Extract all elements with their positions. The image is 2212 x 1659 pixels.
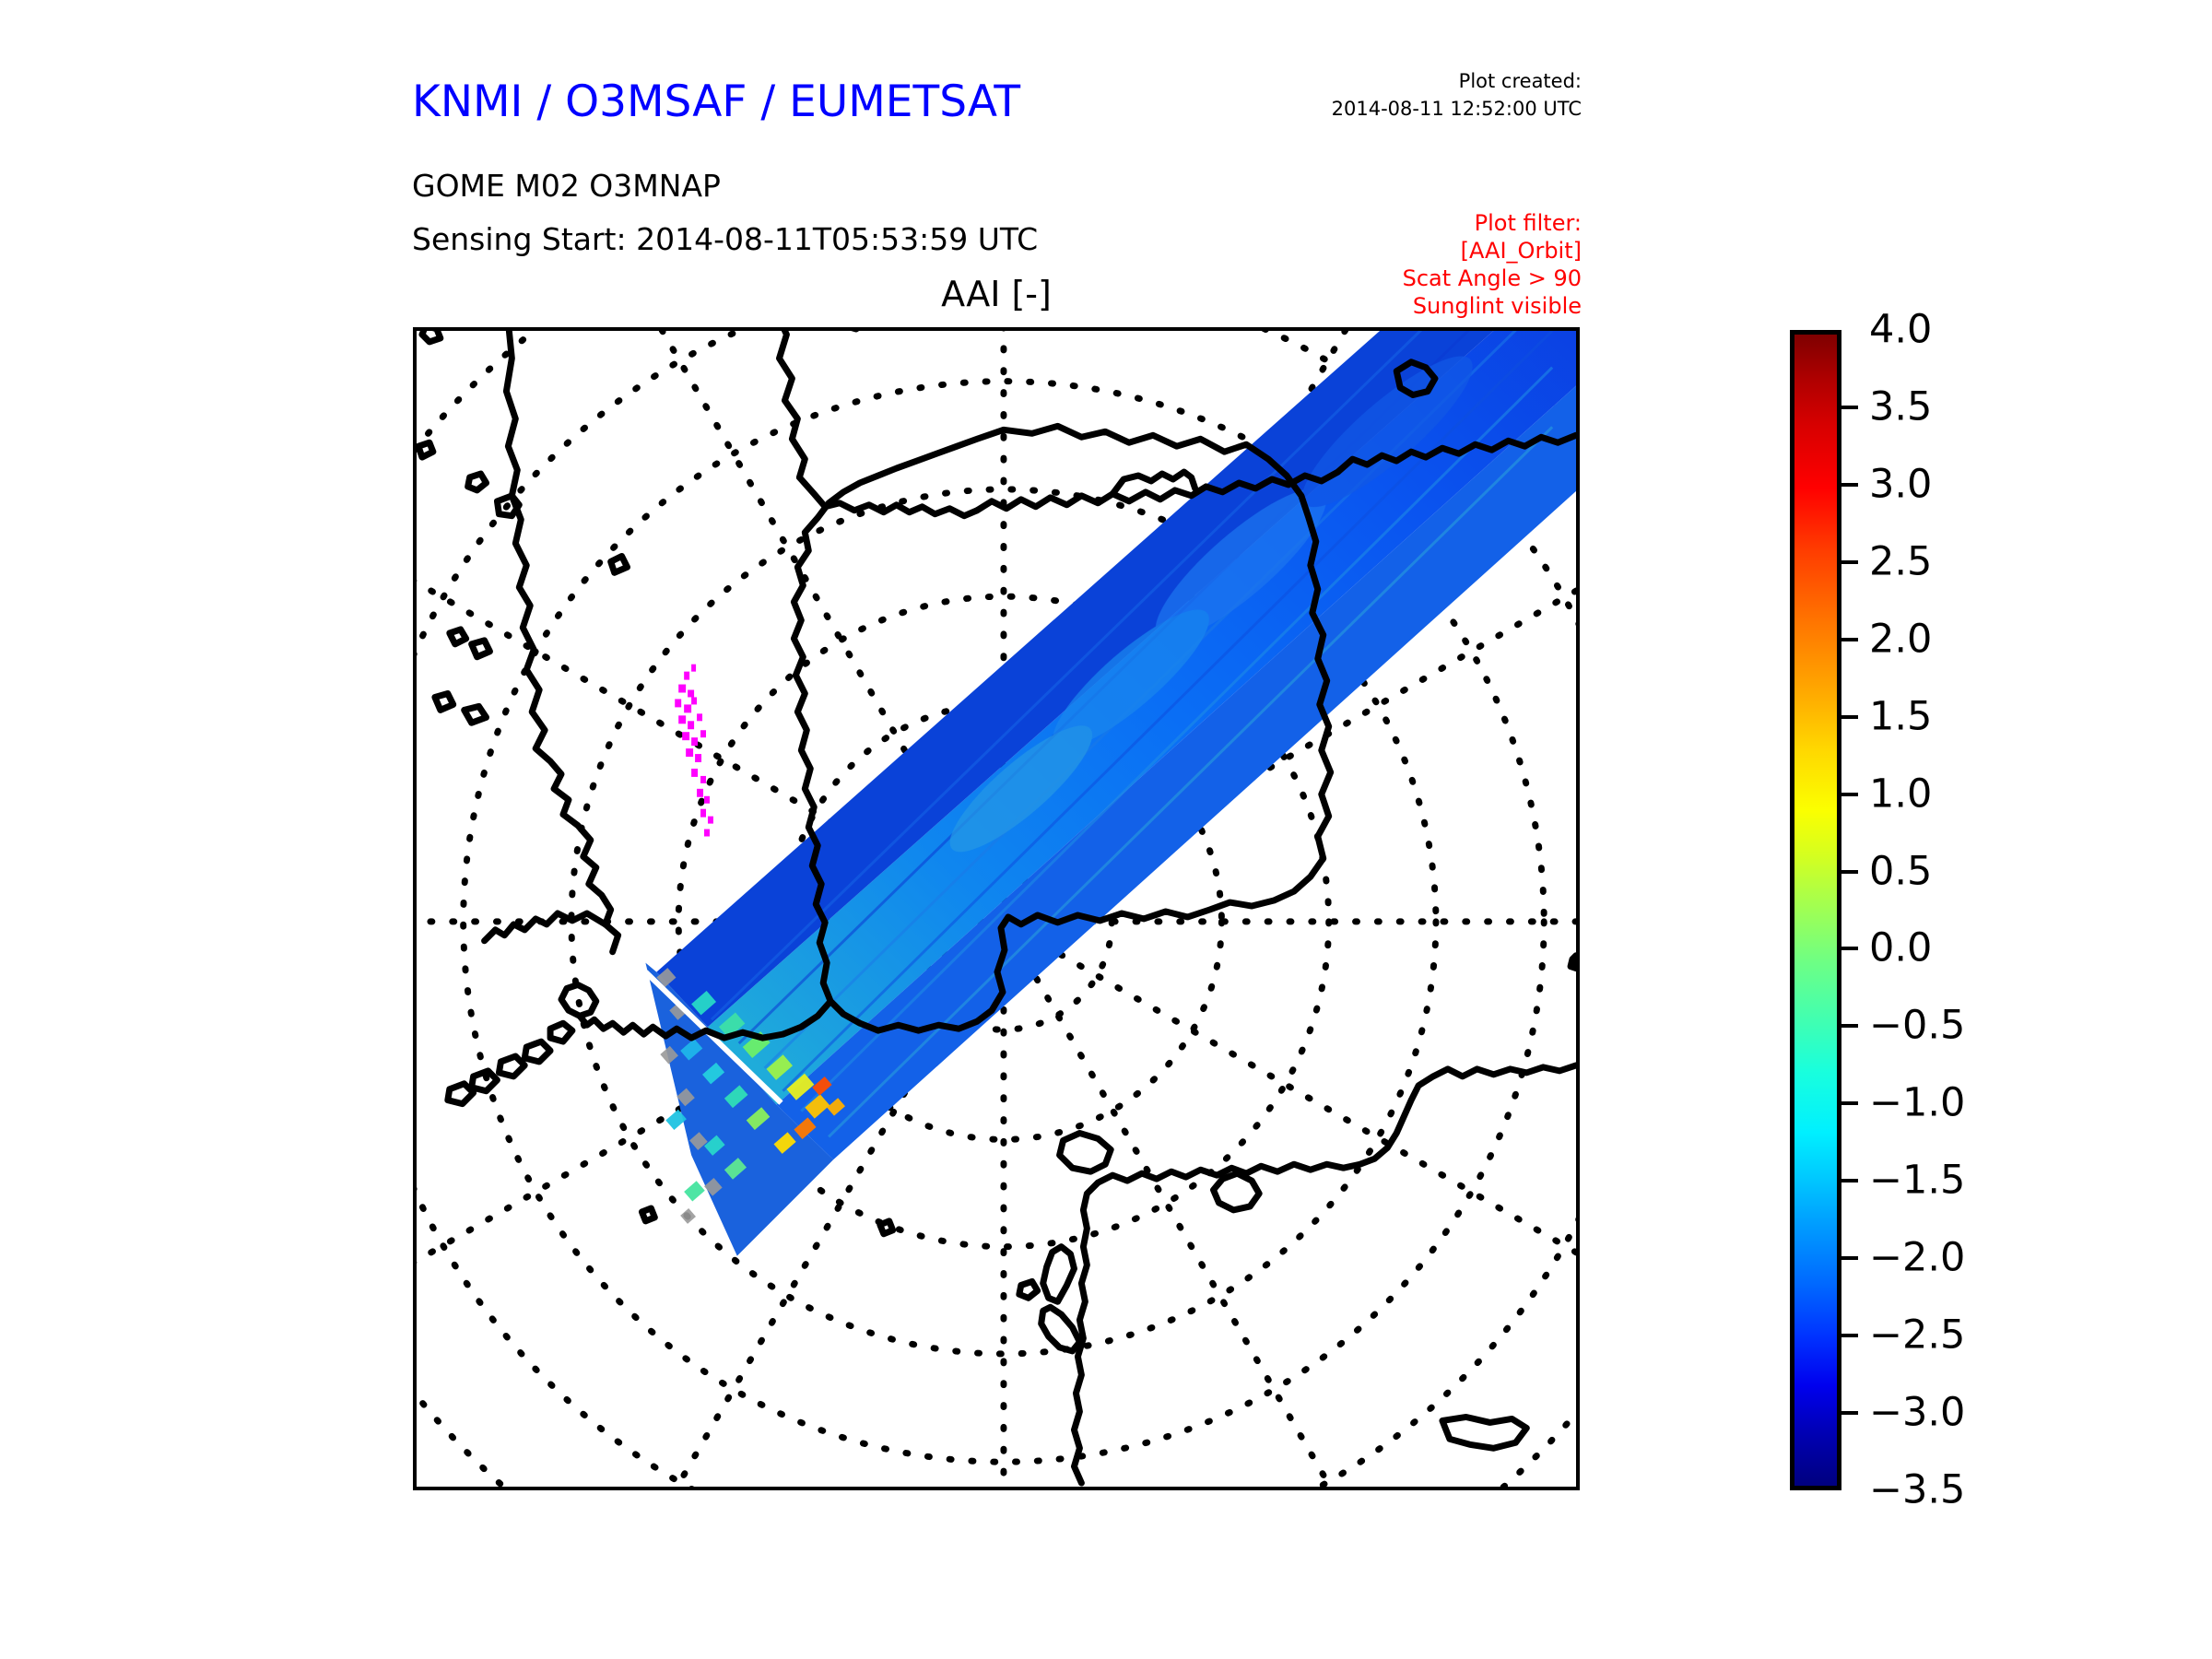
island-t xyxy=(641,1208,654,1221)
colorbar-tick-label: 2.0 xyxy=(1869,619,1932,659)
satellite-swath xyxy=(645,331,1576,1256)
island-g xyxy=(435,693,453,710)
island-v xyxy=(1571,956,1576,969)
map-plot-area[interactable] xyxy=(413,327,1580,1490)
plot-filter-line-3: Sunglint visible xyxy=(1413,293,1582,319)
colorbar-tick-label: 1.0 xyxy=(1869,774,1932,814)
island-tasmania xyxy=(1442,1417,1526,1448)
island-r xyxy=(1214,1173,1260,1210)
colorbar-tick-mark xyxy=(1841,638,1858,641)
colorbar-tick-mark xyxy=(1841,715,1858,719)
colorbar-tick-label: −1.0 xyxy=(1869,1084,1965,1124)
island-b xyxy=(468,474,487,490)
plot-created-value: 2014-08-11 12:52:00 UTC xyxy=(1332,98,1582,120)
island-e xyxy=(450,629,466,644)
colorbar-tick-mark xyxy=(1841,1334,1858,1337)
colorbar[interactable]: 4.03.53.02.52.01.51.00.50.0−0.5−1.0−1.5−… xyxy=(1790,330,1841,1490)
colorbar-tick-label: 2.5 xyxy=(1869,542,1932,582)
island-u xyxy=(880,1221,893,1234)
colorbar-tick-label: 0.5 xyxy=(1869,852,1932,891)
colorbar-tick-label: −3.5 xyxy=(1869,1471,1965,1511)
island-h xyxy=(465,706,487,723)
sunglint-markers xyxy=(675,665,713,837)
island-p xyxy=(472,1071,498,1091)
sensing-start-line: Sensing Start: 2014-08-11T05:53:59 UTC xyxy=(412,221,1038,257)
colorbar-tick-mark xyxy=(1841,1101,1858,1105)
island-nz-south xyxy=(1043,1247,1075,1302)
colorbar-gradient xyxy=(1790,330,1841,1490)
map-svg xyxy=(417,331,1576,1487)
island-nz-north xyxy=(1041,1307,1080,1351)
coast-south-america xyxy=(506,331,618,952)
island-i xyxy=(611,556,628,572)
colorbar-tick-mark xyxy=(1841,1179,1858,1182)
colorbar-tick-label: −2.5 xyxy=(1869,1316,1965,1356)
colorbar-tick-mark xyxy=(1841,947,1858,950)
island-s xyxy=(1019,1281,1038,1298)
island-m xyxy=(550,1023,572,1041)
plot-filter-line-2: Scat Angle > 90 xyxy=(1403,265,1582,291)
colorbar-tick-mark xyxy=(1841,793,1858,796)
coast-africa-west xyxy=(776,331,978,516)
island-q xyxy=(448,1084,474,1104)
colorbar-tick-label: −1.5 xyxy=(1869,1161,1965,1201)
island-o xyxy=(499,1056,524,1077)
colorbar-tick-label: −3.0 xyxy=(1869,1394,1965,1433)
colorbar-tick-label: 3.5 xyxy=(1869,387,1932,427)
island-n xyxy=(524,1041,550,1062)
brand-title: KNMI / O3MSAF / EUMETSAT xyxy=(412,76,1020,127)
colorbar-tick-mark xyxy=(1841,406,1858,409)
colorbar-tick-mark xyxy=(1841,1411,1858,1415)
colorbar-tick-label: 1.5 xyxy=(1869,697,1932,736)
island-d xyxy=(418,442,433,457)
colorbar-tick-label: −0.5 xyxy=(1869,1006,1965,1046)
colorbar-tick-label: 4.0 xyxy=(1869,311,1932,350)
island-a xyxy=(422,331,441,342)
colorbar-tick-mark xyxy=(1841,1256,1858,1260)
colorbar-tick-label: 3.0 xyxy=(1869,465,1932,504)
product-line: GOME M02 O3MNAP xyxy=(412,168,721,204)
colorbar-tick-mark xyxy=(1841,1024,1858,1028)
plot-created-label: Plot created: xyxy=(1459,70,1582,92)
colorbar-tick-label: −2.0 xyxy=(1869,1239,1965,1278)
colorbar-tick-label: 0.0 xyxy=(1869,929,1932,969)
plot-filter-line-1: [AAI_Orbit] xyxy=(1461,238,1582,264)
island-f xyxy=(472,641,490,657)
colorbar-tick-mark xyxy=(1841,870,1858,874)
coast-south-america-west xyxy=(485,913,606,941)
colorbar-tick-mark xyxy=(1841,560,1858,564)
island-tasmania-area xyxy=(1060,1133,1112,1171)
plot-filter-line-0: Plot filter: xyxy=(1475,210,1582,236)
colorbar-tick-mark xyxy=(1841,483,1858,487)
